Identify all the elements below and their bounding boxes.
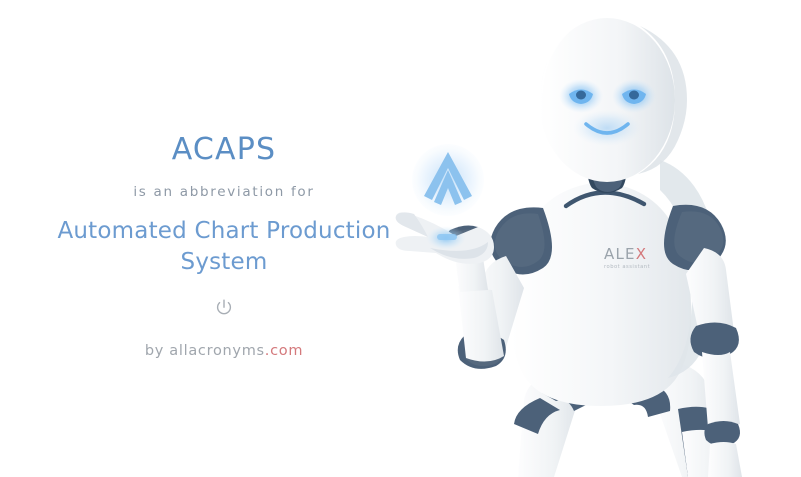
abbreviation-connector-text: is an abbreviation for	[0, 182, 448, 202]
acronym-card: ACAPS is an abbreviation for Automated C…	[0, 0, 801, 477]
acronym-term: ACAPS	[0, 131, 448, 169]
text-column: ACAPS is an abbreviation for Automated C…	[0, 0, 448, 477]
robot-eye-left	[559, 79, 603, 113]
robot-torso	[511, 160, 718, 406]
byline-prefix: by allacronyms	[145, 343, 265, 359]
robot-eye-right	[612, 79, 656, 113]
byline: by allacronyms.com	[0, 341, 448, 361]
robot-head	[539, 18, 687, 182]
power-icon	[214, 298, 234, 318]
robot-open-hand	[396, 212, 494, 263]
robot-illustration	[390, 0, 801, 477]
acronym-expansion: Automated Chart Production System	[24, 216, 424, 278]
robot-figure	[390, 0, 801, 477]
power-icon-wrap	[0, 298, 448, 322]
byline-domain: .com	[265, 343, 303, 359]
robot-smile	[573, 110, 641, 146]
